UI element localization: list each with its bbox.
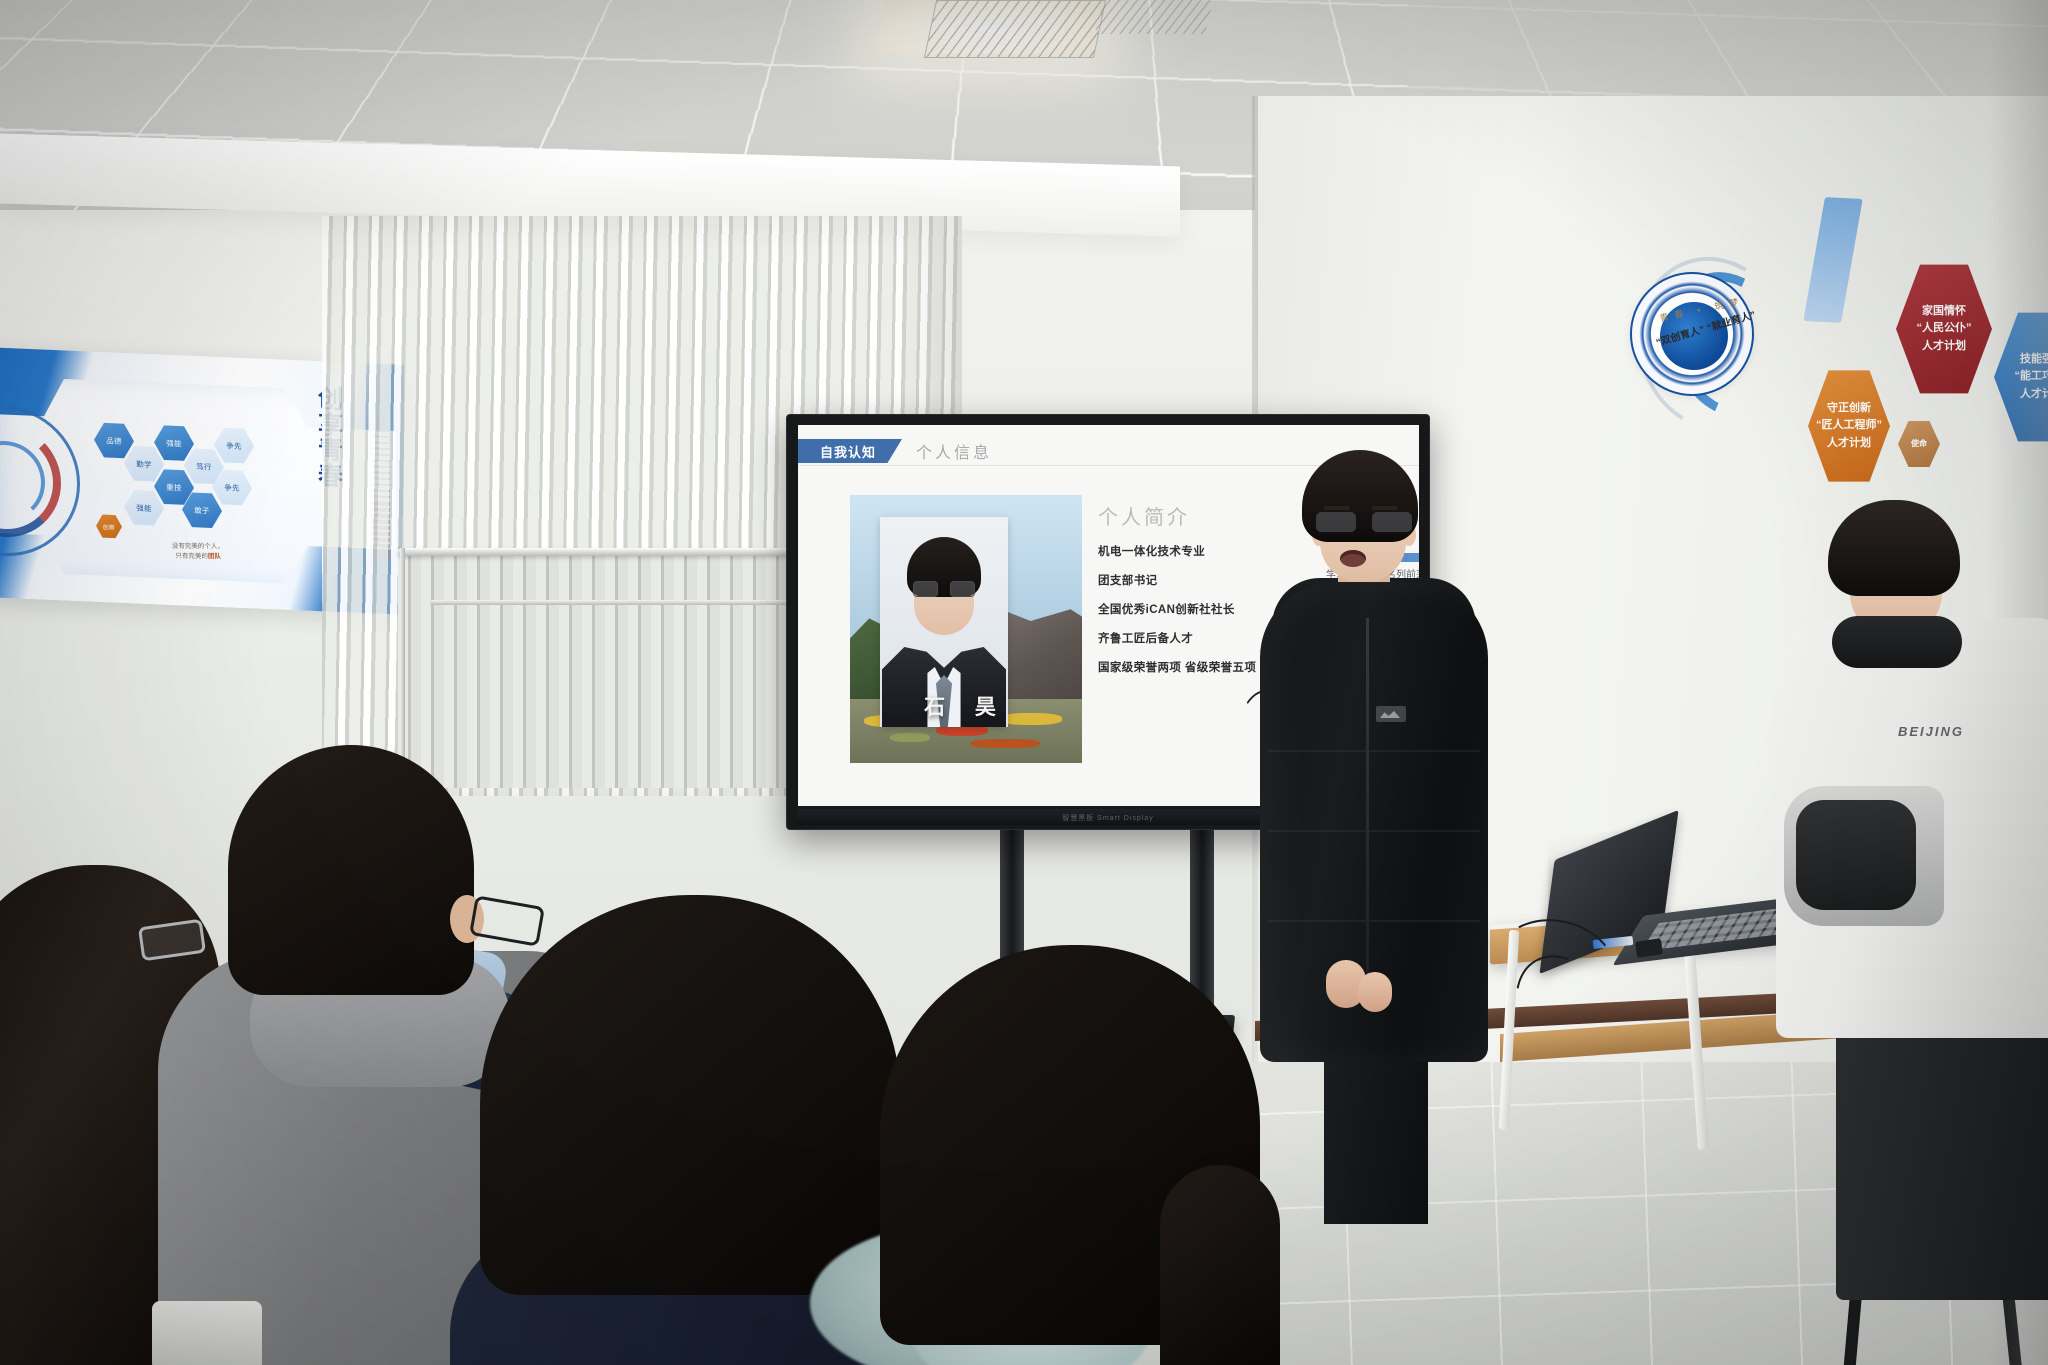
- jacket-zipper: [1366, 618, 1369, 988]
- hex-talent-plan-red: 家国情怀 “人民公仆” 人才计划: [1896, 262, 1992, 396]
- audience-long-hair: [480, 895, 900, 1295]
- student-forearm-dark: [1796, 800, 1916, 910]
- presenter-person: [1254, 450, 1494, 1070]
- audience-member-far-right: [1160, 1165, 1280, 1365]
- student-hair: [1828, 500, 1960, 596]
- hex-line-2: “人民公仆”: [1917, 320, 1972, 337]
- hex-line-2: “匠人工程师”: [1816, 417, 1882, 434]
- foreground-chair: [152, 1301, 262, 1365]
- right-wall-graphic: 青春 • 筑梦 “双创育人” “就业育人” 守正创新 “匠人工程师” 人才计划 …: [1640, 210, 2048, 540]
- hex-badge: 勤学: [124, 445, 164, 483]
- jacket-brand-logo-icon: [1376, 706, 1406, 722]
- jacket-brand-text: BEIJING: [1898, 724, 1964, 739]
- hex-badge: 争先: [214, 427, 254, 465]
- presenter-legs: [1324, 1044, 1428, 1224]
- student-jacket-collar: [1832, 616, 1962, 668]
- hex-mission-small: 使命: [1898, 420, 1940, 468]
- profile-name-overlay: 石 昊: [850, 691, 1082, 721]
- hex-talent-plan-orange: 守正创新 “匠人工程师” 人才计划: [1808, 368, 1890, 484]
- hex-line-3: 人才计划: [1827, 435, 1871, 452]
- hex-line-1: 家国情怀: [1922, 303, 1966, 320]
- hex-badge: 强能: [124, 489, 164, 527]
- tagline-line-1: 没有完美的个人，: [172, 543, 224, 550]
- hex-line-3: 人才计划: [1922, 338, 1966, 355]
- classroom-scene: 品德 勤学 强能 笃行 争先 重技 争先 强能 敢子 创新 没有完美的个人， 只…: [0, 0, 2048, 1365]
- jacket-seam: [1268, 920, 1480, 922]
- left-panel-tagline: 没有完美的个人， 只有完美的团队: [138, 542, 259, 562]
- presenter-glasses-icon: [1316, 512, 1412, 532]
- hex-line-1: 守正创新: [1827, 400, 1871, 417]
- profile-photo-card: 石 昊: [850, 495, 1082, 763]
- presenter-mouth-speaking: [1340, 550, 1366, 567]
- hex-badge: 强能: [154, 424, 194, 462]
- audience-hair: [228, 745, 474, 995]
- presenter-hand: [1358, 972, 1392, 1012]
- slide-subtitle: 个人信息: [916, 439, 992, 463]
- blue-ribbon-decor: [1803, 197, 1862, 323]
- presenter-eyebrow: [1324, 506, 1350, 510]
- tagline-line-2: 只有完美的: [175, 553, 208, 560]
- display-brand-label: 智慧黑板 Smart Display: [1062, 813, 1154, 823]
- audience-head: [1160, 1165, 1280, 1365]
- jacket-seam: [1268, 750, 1480, 752]
- presenter-eyebrow: [1372, 506, 1398, 510]
- hex-badge: 品德: [94, 422, 134, 460]
- portrait-glasses-icon: [913, 581, 975, 597]
- jacket-seam: [1268, 830, 1480, 832]
- left-panel-hexagon-cluster: 品德 勤学 强能 笃行 争先 重技 争先 强能 敢子 创新: [94, 422, 274, 542]
- slide-header: 自我认知 个人信息: [798, 439, 992, 463]
- slide-section-tab: 自我认知: [798, 439, 902, 463]
- tagline-bold: 团队: [208, 553, 221, 560]
